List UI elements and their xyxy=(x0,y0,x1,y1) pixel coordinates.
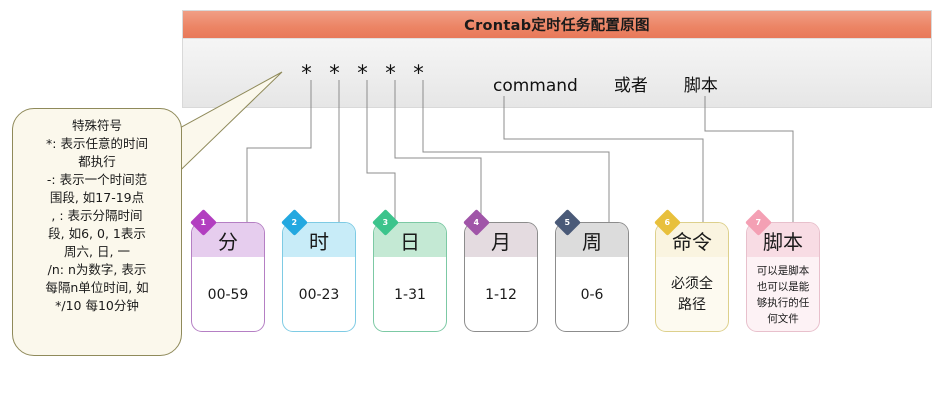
asterisk-day: * xyxy=(355,63,370,83)
command-row: command 或者 脚本 xyxy=(493,71,718,96)
field-order-badge-number: 5 xyxy=(565,218,571,226)
field-box[interactable]: 命令必须全路径 xyxy=(655,222,729,332)
field-box-value-line: 0-6 xyxy=(581,286,604,305)
special-symbols-callout: 特殊符号 *: 表示任意的时间 都执行 -: 表示一个时间范 围段, 如17-1… xyxy=(12,108,182,356)
field-box[interactable]: 脚本可以是脚本也可以是能够执行的任何文件 xyxy=(746,222,820,332)
field-box-value-line: 1-12 xyxy=(485,286,517,305)
script-label: 脚本 xyxy=(684,71,718,96)
field-box-body: 1-12 xyxy=(465,257,537,332)
wire-script xyxy=(705,96,793,228)
asterisk-hour: * xyxy=(327,63,342,83)
asterisk-weekday: * xyxy=(411,63,426,83)
field-order-badge-number: 1 xyxy=(201,218,207,226)
field-box-value-line: 也可以是能 xyxy=(757,280,810,294)
callout-line: 周六, 日, 一 xyxy=(13,243,181,261)
field-box-body: 可以是脚本也可以是能够执行的任何文件 xyxy=(747,257,819,332)
field-box-body: 1-31 xyxy=(374,257,446,332)
callout-line: *: 表示任意的时间 xyxy=(13,135,181,153)
callout-line: 段, 如6, 0, 1表示 xyxy=(13,225,181,243)
asterisk-month: * xyxy=(383,63,398,83)
field-box[interactable]: 月1-12 xyxy=(464,222,538,332)
callout-line: /n: n为数字, 表示 xyxy=(13,261,181,279)
field-box-value-line: 可以是脚本 xyxy=(757,264,810,278)
callout-line: 特殊符号 xyxy=(13,117,181,135)
field-box-body: 0-6 xyxy=(556,257,628,332)
field-order-badge-number: 7 xyxy=(756,218,762,226)
field-box[interactable]: 周0-6 xyxy=(555,222,629,332)
diagram-canvas: Crontab定时任务配置原图 * * * * * command 或者 脚本 xyxy=(0,0,950,402)
command-label: command xyxy=(493,76,578,96)
field-box-value-line: 00-23 xyxy=(299,286,340,305)
field-box-body: 00-59 xyxy=(192,257,264,332)
asterisk-minute: * xyxy=(299,63,314,83)
page-title: Crontab定时任务配置原图 xyxy=(464,14,650,35)
callout-line: 每隔n单位时间, 如 xyxy=(13,279,181,297)
field-box-value-line: 够执行的任 xyxy=(757,296,810,310)
field-order-badge-number: 2 xyxy=(292,218,298,226)
or-label: 或者 xyxy=(614,71,648,96)
field-order-badge-number: 4 xyxy=(474,218,480,226)
field-box[interactable]: 日1-31 xyxy=(373,222,447,332)
wire-command xyxy=(504,96,703,228)
callout-line: , : 表示分隔时间 xyxy=(13,207,181,225)
field-box-body: 必须全路径 xyxy=(656,257,728,332)
callout-line: 围段, 如17-19点 xyxy=(13,189,181,207)
field-box-value-line: 何文件 xyxy=(767,312,799,326)
field-order-badge-number: 6 xyxy=(665,218,671,226)
field-box-value-line: 1-31 xyxy=(394,286,426,305)
asterisk-group: * * * * * xyxy=(299,63,426,83)
field-box-value-line: 必须全 xyxy=(671,275,713,294)
field-box-value-line: 00-59 xyxy=(208,286,249,305)
callout-line: */10 每10分钟 xyxy=(13,297,181,315)
callout-line: 都执行 xyxy=(13,153,181,171)
field-box-body: 00-23 xyxy=(283,257,355,332)
field-box-value-line: 路径 xyxy=(678,296,706,315)
callout-line: -: 表示一个时间范 xyxy=(13,171,181,189)
field-order-badge-number: 3 xyxy=(383,218,389,226)
